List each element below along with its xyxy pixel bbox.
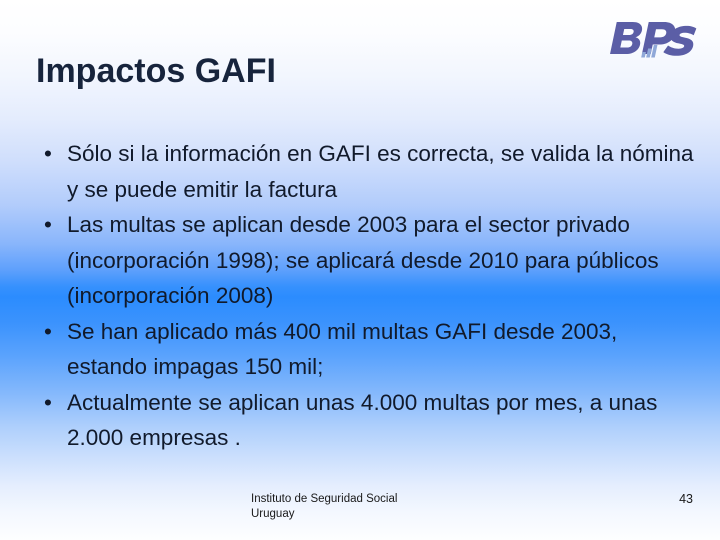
bullet-marker-icon: • (44, 314, 56, 350)
bullet-item: • Las multas se aplican desde 2003 para … (36, 207, 696, 314)
bullet-marker-icon: • (44, 385, 56, 421)
footer-organization: Instituto de Seguridad Social Uruguay (251, 492, 591, 521)
bullet-item-text: Se han aplicado más 400 mil multas GAFI … (67, 319, 617, 380)
bullet-item: • Se han aplicado más 400 mil multas GAF… (36, 314, 696, 385)
bullet-list: • Sólo si la información en GAFI es corr… (36, 136, 696, 456)
slide-title: Impactos GAFI (36, 50, 556, 92)
bullet-item-text: Sólo si la información en GAFI es correc… (67, 141, 694, 202)
bullet-marker-icon: • (44, 136, 56, 172)
slide-footer: Instituto de Seguridad Social Uruguay 43 (0, 492, 720, 536)
bullet-item-text: Actualmente se aplican unas 4.000 multas… (67, 390, 657, 451)
bullet-item: • Actualmente se aplican unas 4.000 mult… (36, 385, 696, 456)
bps-logo-icon (600, 16, 704, 62)
bullet-item: • Sólo si la información en GAFI es corr… (36, 136, 696, 207)
slide-canvas: Impactos GAFI • Sólo si la información e… (0, 0, 720, 540)
bullet-item-text: Las multas se aplican desde 2003 para el… (67, 212, 659, 308)
bullet-marker-icon: • (44, 207, 56, 243)
bps-logo (600, 16, 704, 62)
page-number: 43 (679, 492, 693, 507)
